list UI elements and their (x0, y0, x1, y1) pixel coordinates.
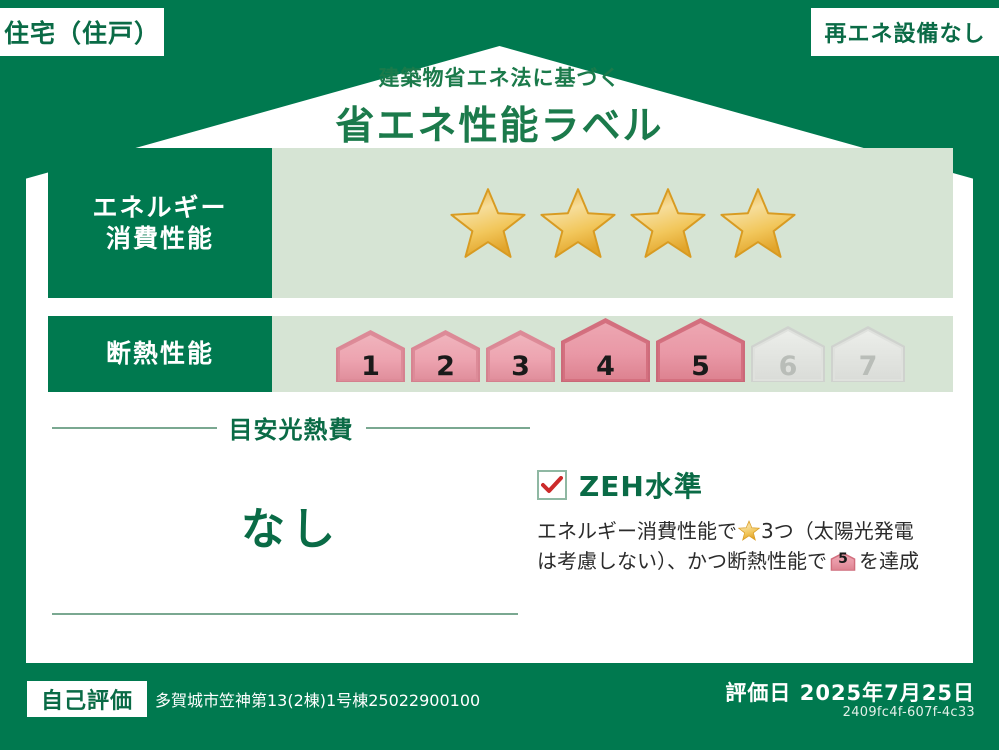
star-rating (272, 186, 953, 260)
footer: 自己評価 多賀城市笠神第13(2棟)1号棟25022900100 評価日 202… (0, 663, 999, 750)
utility-cost-bottom-rule (52, 613, 518, 615)
utility-cost-heading: 目安光熱費 (229, 410, 354, 445)
grade-number: 5 (830, 550, 856, 571)
grade-house-7: 7 (829, 324, 907, 388)
property-id-text: 多賀城市笠神第13(2棟)1号棟25022900100 (155, 687, 480, 711)
title-block: 建築物省エネ法に基づく 省エネ性能ラベル (0, 62, 999, 151)
energy-label-line2: 消費性能 (106, 223, 214, 254)
document-hash: 2409fc4f-607f-4c33 (843, 705, 975, 720)
grade-house-2: 2 (409, 328, 482, 388)
insulation-grade-scale: 1 2 3 (272, 316, 953, 392)
grade-house-5: 5 (654, 316, 747, 388)
evaluation-date: 評価日 2025年7月25日 (725, 677, 975, 707)
heading-rule-left (52, 427, 217, 429)
title-subtitle: 建築物省エネ法に基づく (0, 62, 999, 92)
utility-cost-value: なし (52, 493, 530, 557)
star-icon (719, 186, 797, 260)
renewable-equipment-tag: 再エネ設備なし (811, 8, 999, 56)
grade-house-6: 6 (749, 324, 827, 388)
insulation-performance-body: 1 2 3 (272, 316, 953, 392)
energy-performance-label: エネルギー 消費性能 (48, 148, 272, 298)
zeh-desc-part1: エネルギー消費性能で (537, 519, 737, 543)
zeh-desc-part3: を達成 (859, 549, 919, 573)
energy-performance-row: エネルギー 消費性能 (48, 148, 953, 298)
grade-house-inline: 5 (830, 550, 856, 571)
grade-house-1: 1 (334, 328, 407, 388)
heading-rule-right (366, 427, 531, 429)
star-icon (629, 186, 707, 260)
energy-label-line1: エネルギー (92, 192, 227, 223)
insulation-performance-row: 断熱性能 (48, 316, 953, 392)
energy-label-root: 住宅（住戸） 再エネ設備なし 建築物省エネ法に基づく 省エネ性能ラベル エネルギ… (0, 0, 999, 750)
utility-cost-section: 目安光熱費 なし (52, 410, 530, 557)
self-evaluation-badge: 自己評価 (27, 681, 147, 717)
insulation-performance-label: 断熱性能 (48, 316, 272, 392)
zeh-desc-star-count: 3つ（太陽光発電 (761, 519, 914, 543)
star-icon (738, 520, 760, 541)
check-icon (541, 476, 563, 494)
utility-cost-heading-row: 目安光熱費 (52, 410, 530, 445)
grade-house-3: 3 (484, 328, 557, 388)
star-icon (539, 186, 617, 260)
zeh-desc-part2: は考慮しない）、かつ断熱性能で (537, 549, 827, 573)
zeh-header: ZEH水準 (537, 465, 947, 505)
building-type-tag: 住宅（住戸） (0, 8, 164, 56)
zeh-section: ZEH水準 エネルギー消費性能で3つ（太陽光発電は考慮しない）、かつ断熱性能で5… (537, 465, 947, 576)
zeh-title: ZEH水準 (579, 465, 703, 505)
zeh-description: エネルギー消費性能で3つ（太陽光発電は考慮しない）、かつ断熱性能で5を達成 (537, 516, 947, 576)
grade-house-4: 4 (559, 316, 652, 388)
zeh-checkbox[interactable] (537, 470, 567, 500)
page-title: 省エネ性能ラベル (0, 95, 999, 151)
energy-performance-body (272, 148, 953, 298)
star-icon (449, 186, 527, 260)
